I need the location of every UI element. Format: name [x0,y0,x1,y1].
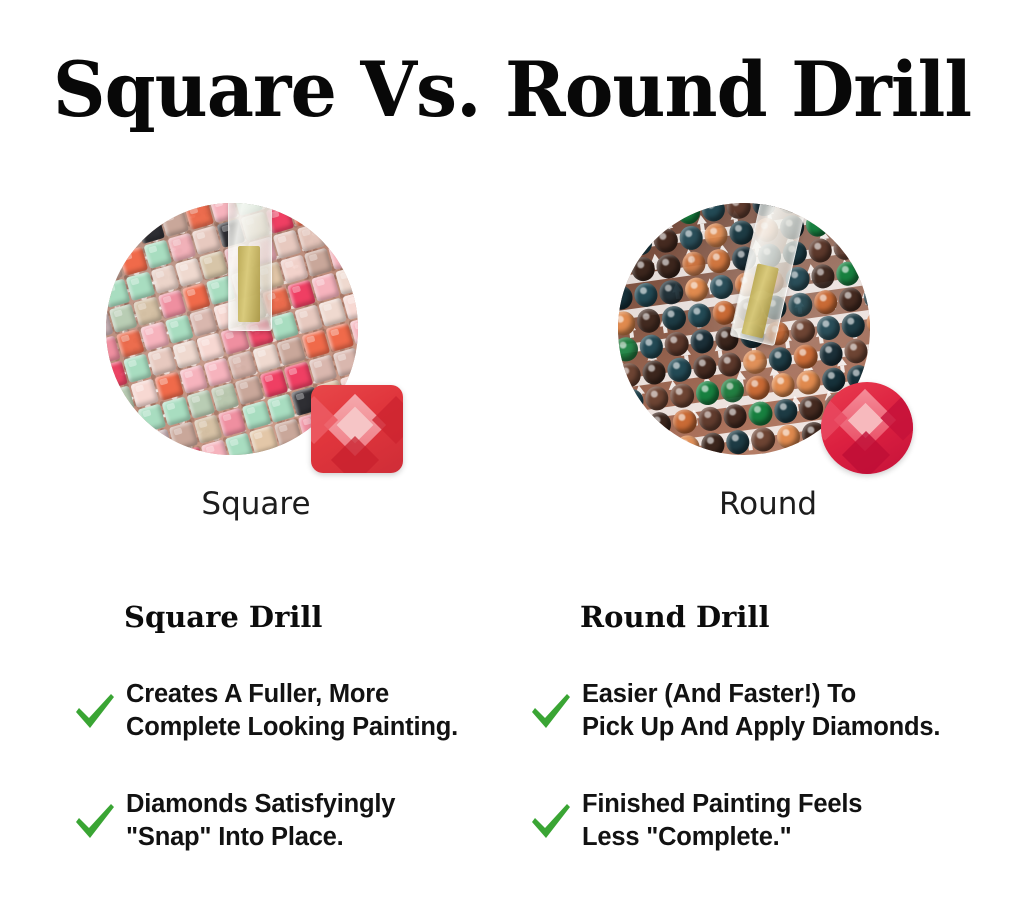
drill-bead [770,372,796,398]
drill-bead [618,207,625,233]
drill-bead [641,359,667,385]
drill-bead [619,388,645,414]
drill-bead [709,274,735,300]
drill-bead [866,310,870,336]
drill-bead [664,331,690,357]
drill-bead [675,434,701,455]
check-icon [72,688,116,734]
list-item: Creates A Fuller, More Complete Looking … [72,678,542,744]
drill-bead [618,362,642,388]
drill-bead [798,395,824,421]
check-icon [72,798,116,844]
round-photo-wrap: Round [618,200,918,476]
drill-bead [653,227,679,253]
drill-bead [748,400,774,426]
drill-bead [335,266,358,296]
drill-bead [625,204,651,230]
drill-bead [689,328,715,354]
drill-bead [675,203,701,225]
drill-bead [628,230,654,256]
drill-bead [618,336,639,362]
drill-bead [776,424,802,450]
drill-bead [793,343,819,369]
drill-bead [649,437,675,455]
drill-bead [618,233,628,259]
check-icon [528,688,572,734]
list-item-label: Diamonds Satisfyingly "Snap" Into Place. [126,788,395,854]
drill-bead [669,383,695,409]
drill-bead [815,315,841,341]
drill-bead [701,203,727,223]
drill-bead [706,248,732,274]
drill-bead [666,357,692,383]
drill-bead [644,385,670,411]
drill-bead [830,209,856,235]
drill-bead [621,414,647,440]
drill-bead [333,347,358,377]
page-title: Square Vs. Round Drill [20,48,1003,132]
applicator-pen-square [228,203,272,331]
drill-bead [703,222,729,248]
drill-bead [658,279,684,305]
drill-bead [795,369,821,395]
square-gem [311,385,403,473]
drill-bead [678,225,704,251]
drill-bead [860,258,870,284]
drill-bead [638,333,664,359]
drill-bead [720,377,746,403]
comparison-row: Square [0,200,1024,530]
drill-bead [804,211,830,237]
drill-bead [650,203,676,228]
round-drill-heading: Round Drill [580,600,998,634]
drill-bead [745,375,771,401]
drill-bead [835,261,861,287]
drill-bead [810,263,836,289]
drill-bead [725,429,751,455]
drill-bead [726,203,752,220]
list-item: Easier (And Faster!) To Pick Up And Appl… [528,678,998,744]
list-item-label: Finished Painting Feels Less "Complete." [582,788,862,854]
drill-bead [863,284,870,310]
square-photo-wrap: Square [106,200,406,476]
pen-wax-square [238,246,260,322]
drill-bead [661,305,687,331]
drill-bead [832,235,858,261]
drill-bead [858,232,870,258]
round-gem [821,382,913,474]
drill-bead [624,440,650,455]
drill-bead [636,308,662,334]
drill-bead [773,398,799,424]
drill-bead [767,346,793,372]
drill-bead [697,406,723,432]
list-item-label: Creates A Fuller, More Complete Looking … [126,678,458,744]
drill-bead [818,341,844,367]
feature-column-round: Round Drill Easier (And Faster!) To Pick… [528,600,998,854]
features-row: Square Drill Creates A Fuller, More Comp… [0,600,1024,890]
drill-bead [778,450,804,455]
drill-bead [855,206,870,232]
drill-bead [742,349,768,375]
drill-bead [618,442,625,455]
drill-bead [717,351,743,377]
drill-bead [868,335,870,361]
drill-bead [618,259,631,285]
feature-column-square: Square Drill Creates A Fuller, More Comp… [72,600,542,854]
drill-bead [692,354,718,380]
drill-bead [812,289,838,315]
drill-bead [843,338,869,364]
drill-bead [840,312,866,338]
drill-bead [787,292,813,318]
drill-bead [618,416,622,442]
square-gem-facets [311,385,403,473]
drill-bead [790,318,816,344]
drill-bead [681,251,707,277]
drill-bead [633,282,659,308]
drill-bead [686,302,712,328]
drill-bead [722,403,748,429]
drill-bead [647,411,673,437]
drill-bead [630,256,656,282]
pen-wax-round [741,263,779,338]
list-item: Finished Painting Feels Less "Complete." [528,788,998,854]
panel-round: Round [512,200,1024,530]
panel-square: Square [0,200,512,530]
drill-bead [672,408,698,434]
drill-bead [750,426,776,452]
drill-bead [807,237,833,263]
drill-bead [618,284,633,310]
drill-bead [838,286,864,312]
round-gem-facets [821,382,913,474]
drill-bead [753,452,779,455]
drill-bead [618,310,636,336]
drill-bead [694,380,720,406]
list-item-label: Easier (And Faster!) To Pick Up And Appl… [582,678,940,744]
drill-bead [618,391,619,417]
drill-bead [683,276,709,302]
square-photo-caption: Square [106,486,406,522]
drill-bead [700,432,726,455]
square-drill-heading: Square Drill [124,600,542,634]
drill-bead [656,253,682,279]
list-item: Diamonds Satisfyingly "Snap" Into Place. [72,788,542,854]
check-icon [528,798,572,844]
round-photo-caption: Round [618,486,918,522]
